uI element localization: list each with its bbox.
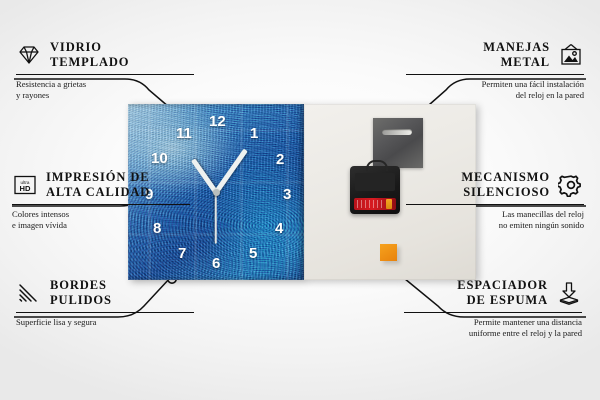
feature-divider <box>406 74 584 75</box>
feature-callout-impresion-alta-calidad: ultra HD IMPRESIÓN DE ALTA CALIDAD Color… <box>12 170 190 232</box>
feature-divider <box>12 204 190 205</box>
feature-desc-line2: no emiten ningún sonido <box>406 220 584 232</box>
feature-divider <box>404 312 582 313</box>
feature-title-line2: DE ESPUMA <box>457 293 548 308</box>
mechanism-body <box>355 173 395 191</box>
feature-desc-line2: y rayones <box>16 90 194 102</box>
feature-desc-line2: e imagen vívida <box>12 220 190 232</box>
feature-desc-line1: Resistencia a grietas <box>16 79 194 91</box>
feature-desc-line1: Permiten una fácil instalación <box>406 79 584 91</box>
feature-desc-line1: Permite mantener una distancia <box>404 317 582 329</box>
feature-desc-line2: del reloj en la pared <box>406 90 584 102</box>
feature-title-line2: PULIDOS <box>50 293 112 308</box>
feature-title-line2: METAL <box>483 55 550 70</box>
foam-spacer-icon <box>556 281 582 305</box>
mechanism-hook <box>366 160 388 171</box>
picture-frame-hanger-icon <box>558 43 584 67</box>
feature-divider <box>16 312 194 313</box>
feature-title-line1: ESPACIADOR <box>457 278 548 293</box>
feature-desc-line1: Colores intensos <box>12 209 190 221</box>
feature-callout-manejas-metal: MANEJAS METAL Permiten una fácil instala… <box>406 40 584 102</box>
feature-callout-bordes-pulidos: BORDES PULIDOS Superficie lisa y segura <box>16 278 194 328</box>
polished-edges-icon <box>16 281 42 305</box>
svg-text:HD: HD <box>20 184 31 193</box>
feature-title-line2: SILENCIOSO <box>461 185 550 200</box>
orange-foam-spacer <box>380 244 397 261</box>
infographic-canvas: 12 1 2 3 4 5 6 7 8 9 10 11 <box>0 0 600 400</box>
feature-title-line2: ALTA CALIDAD <box>46 185 150 200</box>
diamond-icon <box>16 43 42 67</box>
feature-title-line1: BORDES <box>50 278 112 293</box>
hanger-slot <box>382 129 412 135</box>
gear-icon <box>558 173 584 197</box>
feature-callout-espaciador-espuma: ESPACIADOR DE ESPUMA Permite mantener un… <box>404 278 582 340</box>
feature-desc-line1: Las manecillas del reloj <box>406 209 584 221</box>
clock-mechanism <box>350 166 400 214</box>
feature-title-line1: MANEJAS <box>483 40 550 55</box>
feature-title-line1: IMPRESIÓN DE <box>46 170 150 185</box>
feature-desc-line2: uniforme entre el reloj y la pared <box>404 328 582 340</box>
feature-callout-vidrio-templado: VIDRIO TEMPLADO Resistencia a grietas y … <box>16 40 194 102</box>
feature-divider <box>406 204 584 205</box>
feature-desc-line1: Superficie lisa y segura <box>16 317 194 329</box>
feature-divider <box>16 74 194 75</box>
ultra-hd-icon: ultra HD <box>12 173 38 197</box>
mechanism-label-text <box>357 200 385 208</box>
feature-title-line2: TEMPLADO <box>50 55 129 70</box>
feature-callout-mecanismo-silencioso: MECANISMO SILENCIOSO Las manecillas del … <box>406 170 584 232</box>
feature-title-line1: MECANISMO <box>461 170 550 185</box>
feature-title-line1: VIDRIO <box>50 40 129 55</box>
